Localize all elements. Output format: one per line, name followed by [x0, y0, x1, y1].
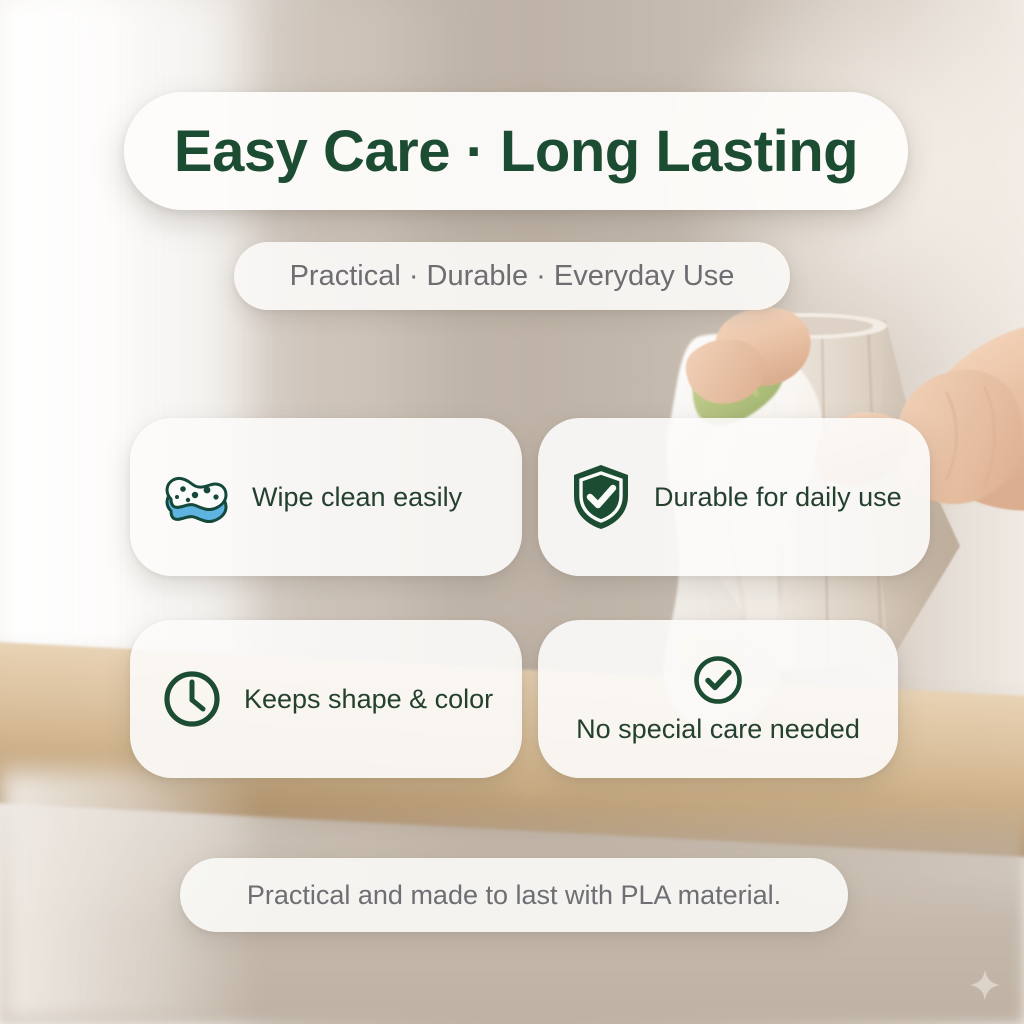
clock-icon [162, 669, 222, 729]
title-banner: Easy Care · Long Lasting [124, 92, 908, 210]
page-title: Easy Care · Long Lasting [174, 118, 858, 185]
feature-card-durable[interactable]: Durable for daily use [538, 418, 930, 576]
feature-card-keeps-shape[interactable]: Keeps shape & color [130, 620, 522, 778]
footer-caption-pill: Practical and made to last with PLA mate… [180, 858, 848, 932]
footer-caption: Practical and made to last with PLA mate… [247, 880, 781, 911]
feature-label: Keeps shape & color [244, 684, 493, 715]
feature-label: Wipe clean easily [252, 482, 462, 513]
feature-card-no-special-care[interactable]: No special care needed [538, 620, 898, 778]
subtitle-pill: Practical · Durable · Everyday Use [234, 242, 790, 310]
check-circle-icon [692, 654, 744, 706]
feature-label: Durable for daily use [654, 482, 902, 513]
feature-label: No special care needed [576, 714, 860, 745]
overlay-ui: Easy Care · Long Lasting Practical · Dur… [0, 0, 1024, 1024]
feature-card-wipe-clean[interactable]: Wipe clean easily [130, 418, 522, 576]
page-subtitle: Practical · Durable · Everyday Use [290, 260, 735, 293]
shield-check-icon [570, 463, 632, 531]
sponge-icon [162, 469, 230, 525]
sparkle-icon [968, 968, 1002, 1002]
infographic-canvas: Easy Care · Long Lasting Practical · Dur… [0, 0, 1024, 1024]
